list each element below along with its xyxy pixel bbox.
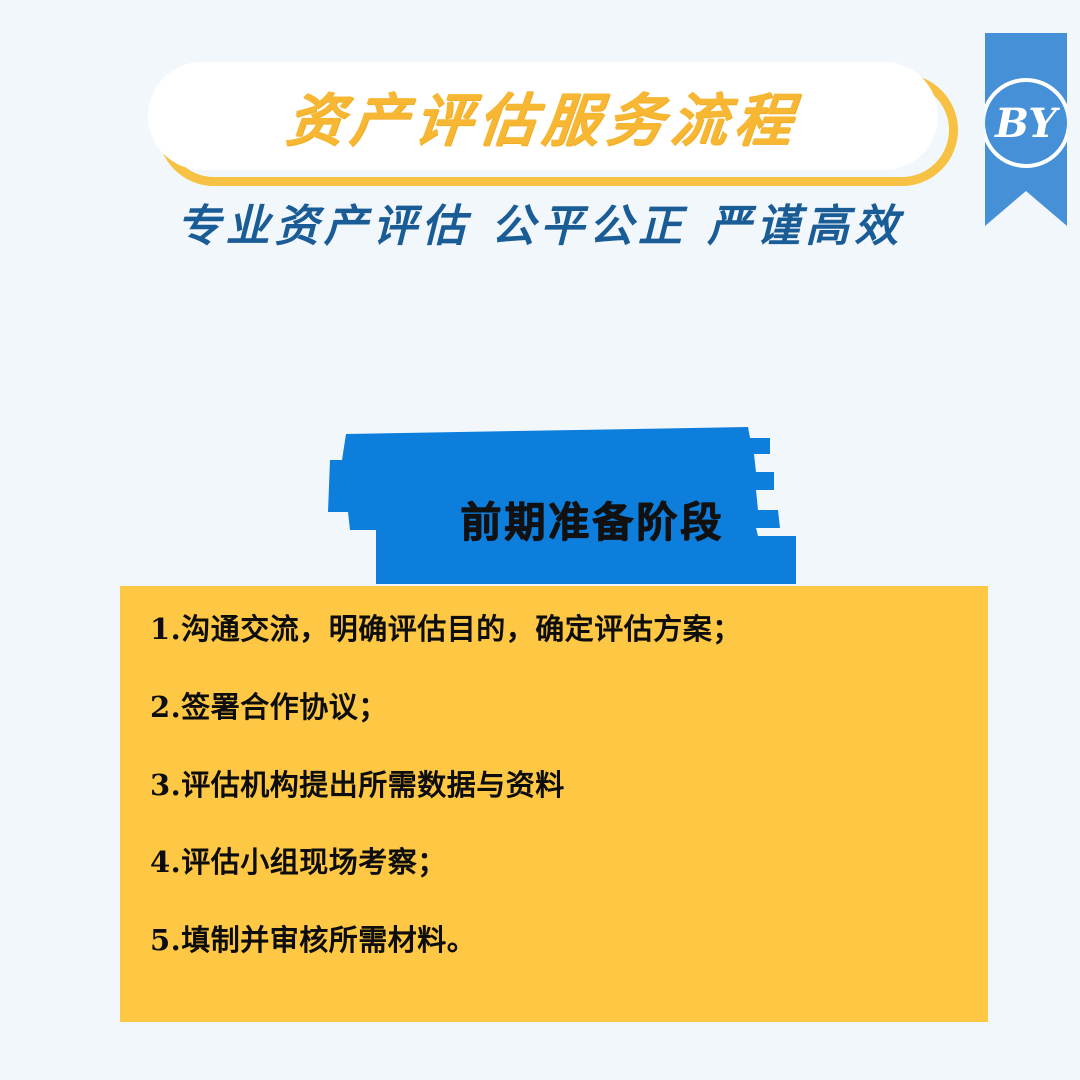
page-title: 资产评估服务流程: [283, 75, 804, 157]
list-item: 4.评估小组现场考察；: [150, 845, 958, 880]
list-item: 3.评估机构提出所需数据与资料: [150, 768, 958, 803]
title-banner: 资产评估服务流程: [148, 62, 948, 174]
step-list: 1.沟通交流，明确评估目的，确定评估方案； 2.签署合作协议； 3.评估机构提出…: [150, 612, 958, 958]
badge-text: BY: [994, 100, 1060, 147]
title-pill: 资产评估服务流程: [148, 62, 938, 170]
torn-banner-icon: [318, 424, 798, 588]
poster-canvas: 资产评估服务流程 BY 专业资产评估 公平公正 严谨高效 前期准备阶段 1.沟通…: [0, 0, 1080, 1080]
ribbon-badge-icon: BY: [985, 33, 1067, 226]
stage-banner-shape: [318, 424, 798, 588]
content-card: 1.沟通交流，明确评估目的，确定评估方案； 2.签署合作协议； 3.评估机构提出…: [120, 586, 988, 1022]
page-subtitle: 专业资产评估 公平公正 严谨高效: [0, 190, 1080, 254]
list-item: 2.签署合作协议；: [150, 690, 958, 725]
by-ribbon-badge: BY: [985, 33, 1067, 226]
header-block: 资产评估服务流程 BY 专业资产评估 公平公正 严谨高效: [0, 0, 1080, 270]
list-item: 1.沟通交流，明确评估目的，确定评估方案；: [150, 612, 958, 647]
list-item: 5.填制并审核所需材料。: [150, 923, 958, 958]
